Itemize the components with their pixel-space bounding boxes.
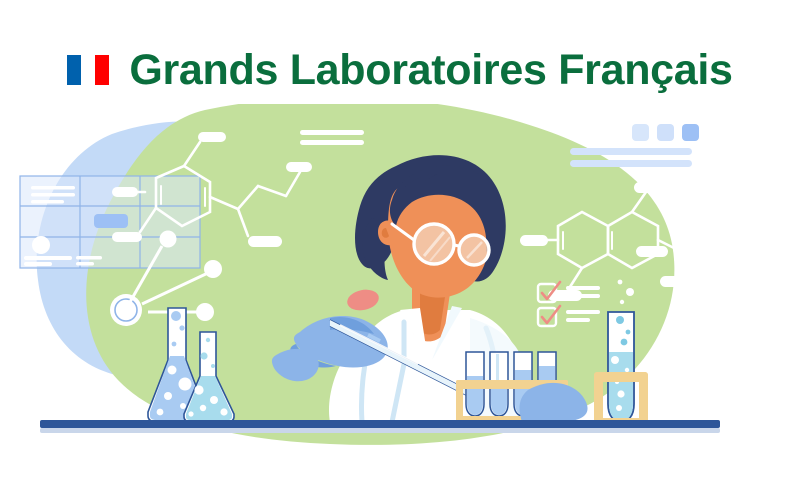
flag-band-white [81, 55, 95, 85]
data-table-grid [20, 176, 200, 268]
french-flag-icon [67, 55, 109, 85]
laboratory-scientist-illustration [0, 104, 800, 464]
flag-band-blue [67, 55, 81, 85]
lab-table-line [40, 420, 720, 433]
poster-root: Grands Laboratoires Français [0, 0, 800, 500]
flag-band-red [95, 55, 109, 85]
poster-header: Grands Laboratoires Français [0, 36, 800, 104]
blue-square-badges [632, 124, 699, 141]
page-title: Grands Laboratoires Français [129, 49, 732, 92]
